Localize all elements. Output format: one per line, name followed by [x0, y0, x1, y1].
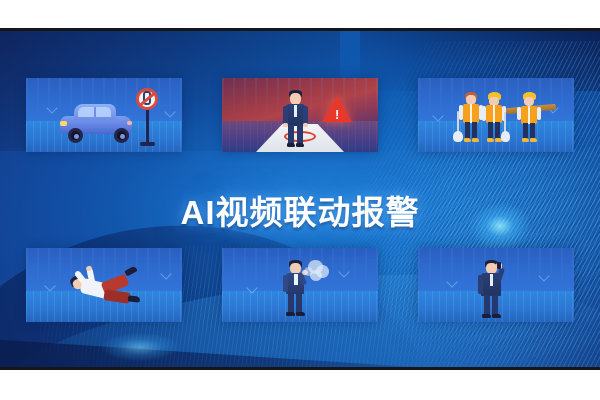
phone-icon	[497, 262, 501, 269]
worker-1-shovel-head	[453, 131, 463, 142]
person-arm-left	[283, 275, 288, 292]
banner-canvas: Blue car parked beside a no-parking sign…	[0, 31, 600, 367]
person-arm-right	[303, 106, 308, 124]
car-window	[78, 107, 111, 117]
person-hand-right	[303, 123, 308, 127]
person-shoe-left	[286, 312, 295, 316]
person-leg-left	[288, 293, 294, 314]
scene-intrusion-alert: !	[222, 78, 378, 152]
thumbnail-intrusion-alert[interactable]: ! Person standing on a restricted walkwa…	[222, 78, 378, 152]
person-leg-right	[297, 125, 303, 145]
worker-3-vest	[521, 106, 537, 124]
thumbnail-phone-call-detection[interactable]: Person making a phone call	[418, 248, 574, 322]
person-shoe-right	[296, 312, 305, 316]
page-title: AI视频联动报警	[0, 186, 600, 234]
worker-1-shoe-left	[464, 138, 471, 142]
person-leg-right	[296, 293, 302, 314]
worker-2-shoe-left	[487, 138, 494, 142]
scene-phone-call-detection	[418, 248, 574, 322]
falling-person-shoe-left	[128, 295, 141, 302]
worker-1-vest	[463, 104, 479, 123]
worker-3-arm-right	[537, 107, 541, 120]
bottom-divider-rule	[0, 367, 600, 370]
worker-1-shoe-right	[472, 138, 479, 142]
thumbnail-smoking-detection[interactable]: Person smoking with a cloud of smoke	[222, 248, 378, 322]
thumbnail-worker-detection[interactable]: Three construction workers in safety ves…	[418, 78, 574, 152]
worker-3-shoe-left	[522, 138, 529, 142]
smoke-puff	[304, 267, 313, 276]
worker-1-arm-left	[459, 105, 463, 120]
person-leg-right	[492, 295, 498, 316]
person-shoe-left	[287, 143, 295, 147]
scene-smoking-detection	[222, 248, 378, 322]
person-arm-left	[478, 275, 483, 294]
person-shirt	[294, 105, 297, 117]
person-shirt	[490, 274, 493, 286]
person-leg-left	[288, 125, 294, 145]
car-wheel-rear	[114, 128, 129, 143]
worker-2-shovel-head	[501, 131, 510, 142]
slide-page: Blue car parked beside a no-parking sign…	[0, 0, 600, 400]
scene-illegal-parking	[26, 78, 182, 152]
thumbnail-fall-detection[interactable]: Person falling to the ground	[26, 248, 182, 322]
sign-base	[140, 142, 155, 146]
worker-3-arm-left	[517, 107, 521, 120]
car-taillight	[127, 121, 132, 125]
person-shoe-right	[492, 314, 501, 318]
person-arm-left	[283, 106, 288, 124]
worker-3-shoe-right	[530, 138, 537, 142]
person-shoe-left	[482, 314, 491, 318]
scene-fall-detection	[26, 248, 182, 322]
worker-2-vest	[486, 105, 502, 123]
car-wheel-front	[68, 128, 83, 143]
worker-3-head	[524, 97, 534, 106]
person-leg-left	[484, 295, 490, 316]
worker-2-arm-left	[482, 106, 486, 121]
thumbnail-illegal-parking[interactable]: Blue car parked beside a no-parking sign…	[26, 78, 182, 152]
scene-worker-detection	[418, 78, 574, 152]
warning-exclamation: !	[335, 108, 339, 121]
car-headlight	[60, 121, 67, 126]
person-shoe-right	[296, 143, 304, 147]
